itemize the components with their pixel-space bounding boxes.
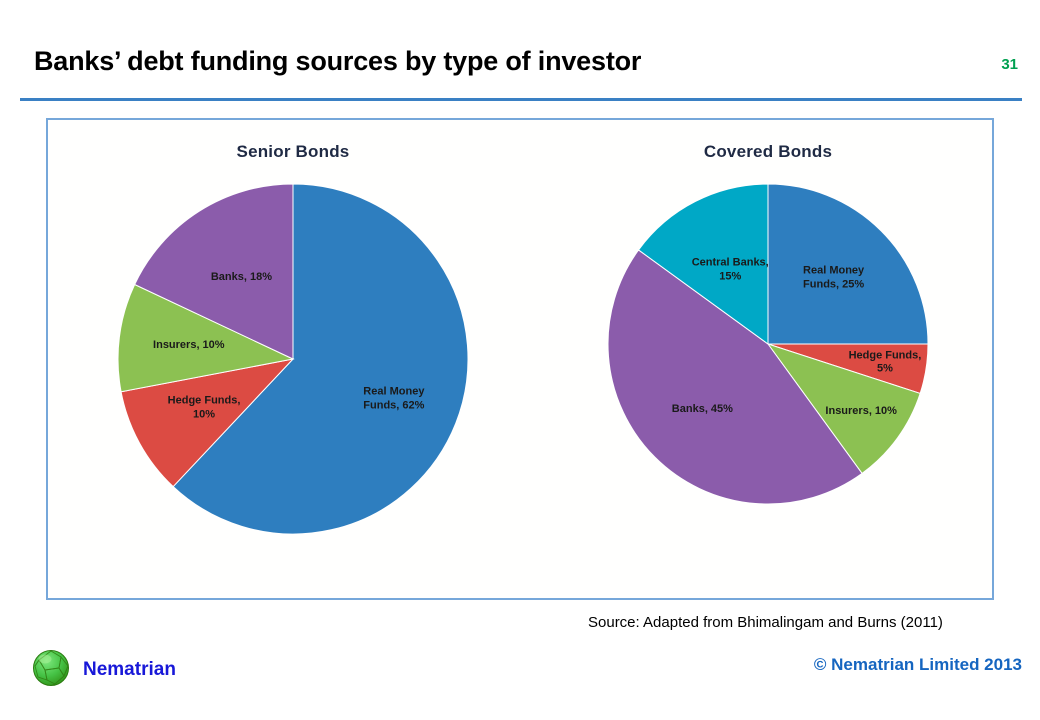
pie-chart-senior-bonds: Senior Bonds Real Money Funds, 62%Hedge … [58, 120, 528, 598]
pie-chart-covered-bonds: Covered Bonds Real Money Funds, 25%Hedge… [548, 120, 988, 598]
title-divider [20, 98, 1022, 101]
pie-stage-senior-bonds: Real Money Funds, 62%Hedge Funds, 10%Ins… [58, 180, 528, 580]
source-note: Source: Adapted from Bhimalingam and Bur… [588, 614, 943, 631]
footer-brand: Nematrian [28, 644, 176, 695]
pie-svg [604, 180, 932, 508]
copyright-text: © Nematrian Limited 2013 [814, 655, 1022, 675]
chart-title-covered-bonds: Covered Bonds [548, 142, 988, 162]
chart-title-senior-bonds: Senior Bonds [58, 142, 528, 162]
pie-svg [114, 180, 472, 538]
brand-name: Nematrian [83, 659, 176, 681]
slide-number: 31 [1001, 56, 1018, 73]
pie-slice [768, 184, 928, 344]
slide-header: Banks’ debt funding sources by type of i… [0, 46, 1040, 102]
chart-frame: Senior Bonds Real Money Funds, 62%Hedge … [46, 118, 994, 600]
page-title: Banks’ debt funding sources by type of i… [34, 46, 641, 77]
pie-stage-covered-bonds: Real Money Funds, 25%Hedge Funds, 5%Insu… [548, 180, 988, 580]
nematrian-polyhedron-logo-icon [28, 644, 74, 695]
